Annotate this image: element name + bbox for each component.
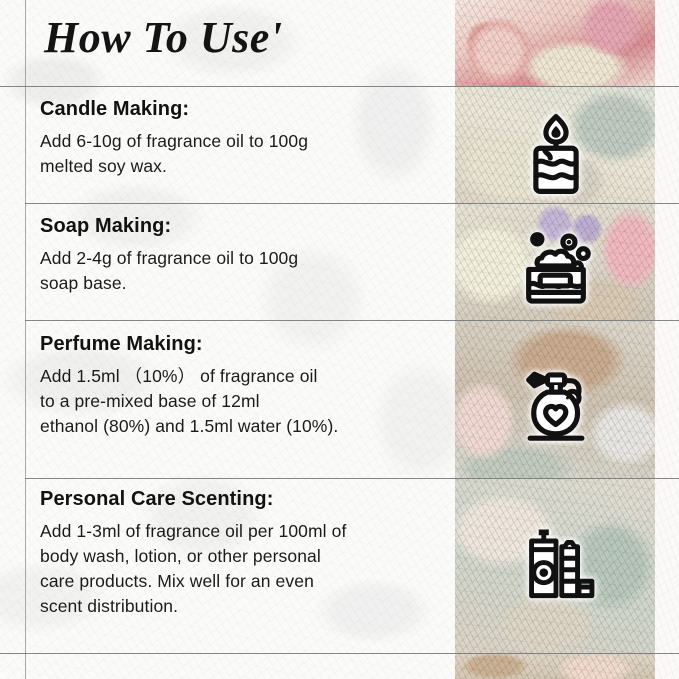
personal-care-products-icon: [510, 518, 602, 610]
perfume-bottle-icon: [510, 362, 602, 454]
section-body-perfume: Add 1.5ml （10%） of fragrance oil to a pr…: [40, 364, 440, 439]
divider-candle-soap: [25, 203, 679, 204]
section-body-personal-care: Add 1-3ml of fragrance oil per 100ml of …: [40, 519, 440, 618]
image-band-header: [455, 0, 655, 86]
soap-bar-icon: [510, 222, 602, 314]
how-to-use-infographic: How To Use' Candle Making: Add 6-10g of …: [0, 0, 679, 679]
candle-icon: [510, 108, 602, 200]
divider-perfume-personal: [25, 478, 679, 479]
left-vertical-rule: [25, 0, 26, 679]
divider-bottom: [0, 653, 679, 654]
image-band-footer: [455, 653, 655, 679]
section-perfume-making: Perfume Making: Add 1.5ml （10%） of fragr…: [40, 333, 440, 439]
page-title: How To Use': [44, 16, 283, 60]
section-soap-making: Soap Making: Add 2-4g of fragrance oil t…: [40, 215, 440, 296]
section-heading-soap: Soap Making:: [40, 215, 440, 237]
divider-below-title: [0, 86, 679, 87]
divider-soap-perfume: [25, 320, 679, 321]
section-personal-care-scenting: Personal Care Scenting: Add 1-3ml of fra…: [40, 488, 440, 618]
section-heading-personal-care: Personal Care Scenting:: [40, 488, 440, 510]
section-candle-making: Candle Making: Add 6-10g of fragrance oi…: [40, 98, 440, 179]
section-body-candle: Add 6-10g of fragrance oil to 100g melte…: [40, 129, 440, 179]
section-body-soap: Add 2-4g of fragrance oil to 100g soap b…: [40, 246, 440, 296]
section-heading-perfume: Perfume Making:: [40, 333, 440, 355]
section-heading-candle: Candle Making:: [40, 98, 440, 120]
right-margin-strip: [655, 0, 679, 679]
